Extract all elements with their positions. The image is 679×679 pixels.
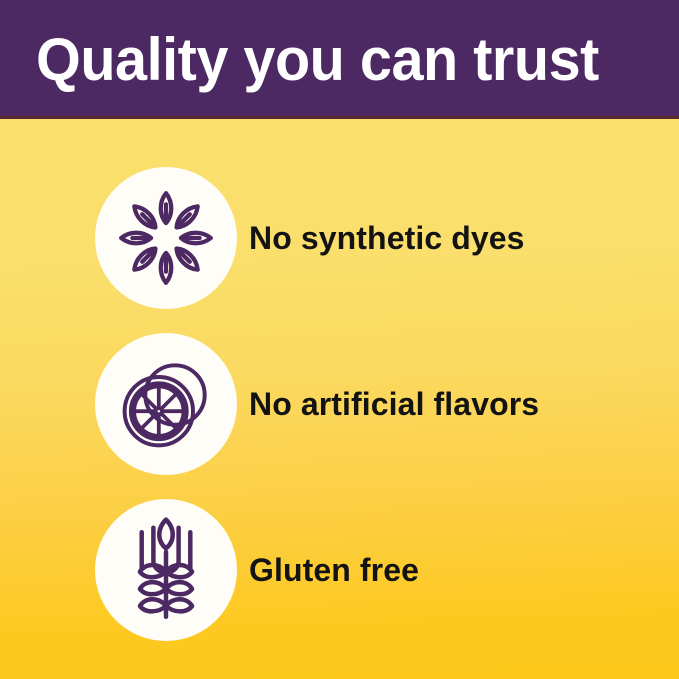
page-title: Quality you can trust bbox=[36, 22, 599, 98]
icon-badge bbox=[95, 167, 237, 309]
flower-petals-icon bbox=[110, 182, 222, 294]
header-band: Quality you can trust bbox=[0, 0, 679, 116]
feature-row: Gluten free bbox=[0, 495, 679, 645]
feature-row: No artificial flavors bbox=[0, 329, 679, 479]
icon-badge bbox=[95, 333, 237, 475]
feature-label: Gluten free bbox=[249, 552, 419, 589]
feature-label: No artificial flavors bbox=[249, 386, 539, 423]
marketing-infographic: Quality you can trust bbox=[0, 0, 679, 679]
feature-list: No synthetic dyes bbox=[0, 119, 679, 679]
feature-row: No synthetic dyes bbox=[0, 163, 679, 313]
feature-label: No synthetic dyes bbox=[249, 220, 525, 257]
icon-badge bbox=[95, 499, 237, 641]
citrus-slice-icon bbox=[112, 350, 220, 458]
wheat-stalk-icon bbox=[114, 516, 218, 624]
header-divider bbox=[0, 116, 679, 119]
